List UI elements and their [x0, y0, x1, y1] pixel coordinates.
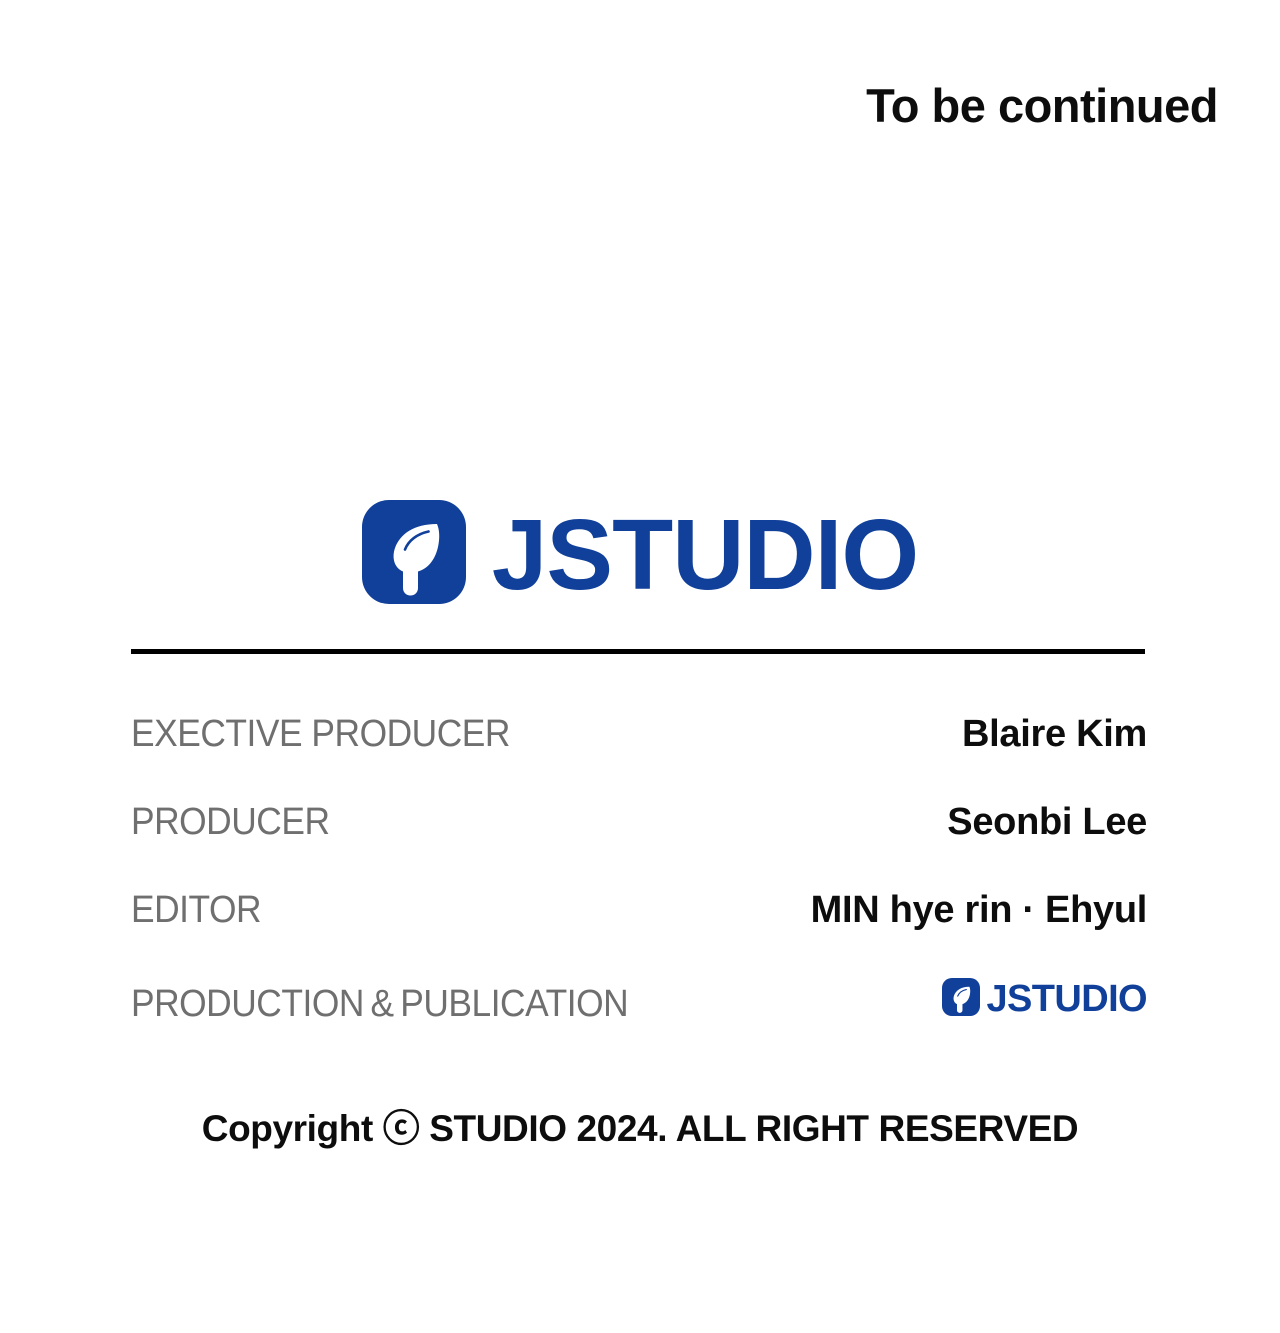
to-be-continued-text: To be continued: [866, 78, 1218, 133]
jstudio-wordmark-small: JSTUDIO: [987, 980, 1148, 1018]
copyright-text: Copyright ⓒ STUDIO 2024. ALL RIGHT RESER…: [0, 1098, 1280, 1152]
credit-value-executive-producer: Blaire Kim: [962, 713, 1147, 756]
credit-row: PRODUCTION & PUBLICATION JSTUDIO: [131, 977, 1147, 1065]
credit-label-production-publication: PRODUCTION & PUBLICATION: [131, 983, 628, 1026]
credit-label-editor: EDITOR: [131, 889, 261, 932]
divider-line: [131, 649, 1145, 654]
credit-value-producer: Seonbi Lee: [947, 801, 1147, 844]
jstudio-leaf-mark-icon: [362, 500, 466, 609]
credit-label-producer: PRODUCER: [131, 801, 330, 844]
credit-row: EDITOR MIN hye rin · Ehyul: [131, 889, 1147, 977]
credit-value-production-publication: JSTUDIO: [942, 977, 1148, 1021]
jstudio-logo: JSTUDIO: [0, 500, 1280, 609]
credit-value-editor: MIN hye rin · Ehyul: [811, 889, 1147, 932]
credit-label-executive-producer: EXECTIVE PRODUCER: [131, 713, 510, 756]
jstudio-wordmark: JSTUDIO: [492, 505, 918, 605]
credit-row: PRODUCER Seonbi Lee: [131, 801, 1147, 889]
credit-row: EXECTIVE PRODUCER Blaire Kim: [131, 713, 1147, 801]
credits-page: To be continued JSTUDIO EXECTIVE PRODUCE…: [0, 0, 1280, 1333]
jstudio-leaf-mark-icon-small: [942, 978, 980, 1021]
credits-list: EXECTIVE PRODUCER Blaire Kim PRODUCER Se…: [131, 713, 1147, 1065]
